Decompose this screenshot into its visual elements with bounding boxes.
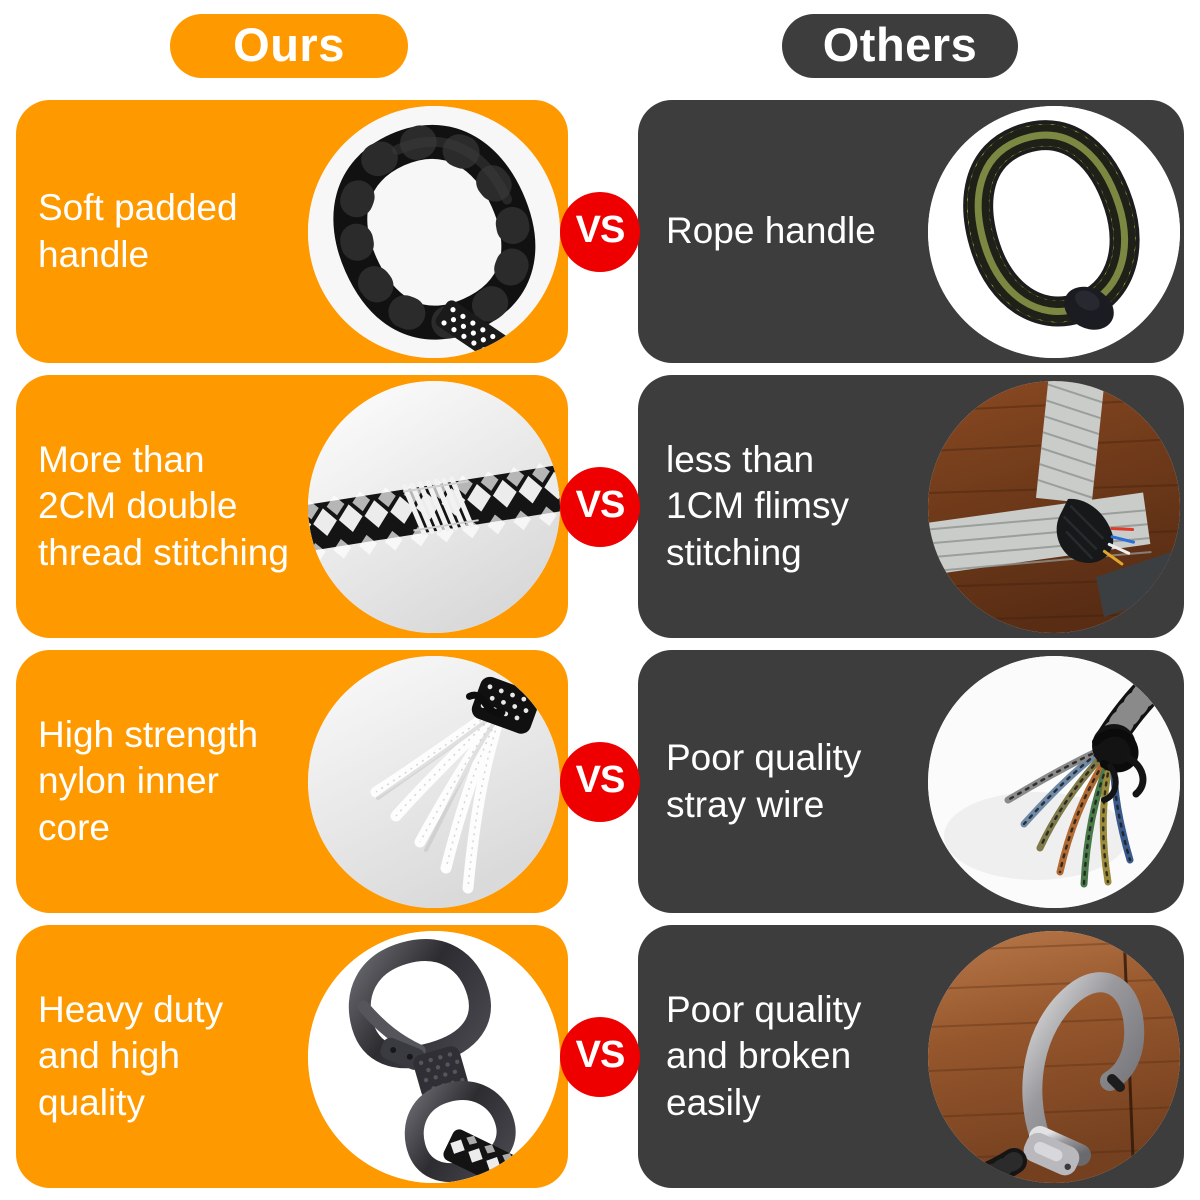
double-thread-stitching-photo — [308, 381, 560, 633]
flimsy-stitching-photo — [928, 381, 1180, 633]
ours-feature-text: Heavy duty and high quality — [38, 987, 223, 1127]
ours-card-row-1: Soft padded handle — [16, 100, 568, 363]
others-feature-text: Poor quality stray wire — [666, 735, 861, 828]
others-card-row-2: less than 1CM flimsy stitching — [638, 375, 1184, 638]
ours-feature-text: More than 2CM double thread stitching — [38, 437, 289, 577]
vs-badge: VS — [560, 192, 640, 272]
comparison-row: Soft padded handle — [0, 100, 1200, 363]
header-label-ours: Ours — [233, 21, 345, 68]
comparison-rows: Soft padded handle — [0, 100, 1200, 1188]
header-pill-ours: Ours — [170, 14, 408, 78]
ours-feature-text: Soft padded handle — [38, 185, 238, 278]
heavy-duty-swivel-clasp-photo — [308, 931, 560, 1183]
vs-label: VS — [576, 1036, 625, 1077]
ours-card-row-4: Heavy duty and high quality — [16, 925, 568, 1188]
vs-badge: VS — [560, 1017, 640, 1097]
padded-fabric-handle-photo — [308, 106, 560, 358]
others-feature-text: less than 1CM flimsy stitching — [666, 437, 849, 577]
vs-label: VS — [576, 486, 625, 527]
vs-badge: VS — [560, 467, 640, 547]
others-feature-text: Rope handle — [666, 208, 876, 255]
vs-label: VS — [576, 211, 625, 252]
ours-feature-text: High strength nylon inner core — [38, 712, 258, 852]
vs-badge: VS — [560, 742, 640, 822]
comparison-infographic: Ours Others Soft padded handle — [0, 0, 1200, 1200]
white-nylon-inner-core-photo — [308, 656, 560, 908]
column-headers: Ours Others — [0, 14, 1200, 80]
others-card-row-1: Rope handle — [638, 100, 1184, 363]
vs-label: VS — [576, 761, 625, 802]
comparison-row: Heavy duty and high quality — [0, 925, 1200, 1188]
others-card-row-4: Poor quality and broken easily — [638, 925, 1184, 1188]
comparison-row: High strength nylon inner core — [0, 650, 1200, 913]
comparison-row: More than 2CM double thread stitching — [0, 375, 1200, 638]
ours-card-row-3: High strength nylon inner core — [16, 650, 568, 913]
green-rope-handle-photo — [928, 106, 1180, 358]
others-card-row-3: Poor quality stray wire — [638, 650, 1184, 913]
header-pill-others: Others — [782, 14, 1018, 78]
broken-carabiner-photo — [928, 931, 1180, 1183]
ours-card-row-2: More than 2CM double thread stitching — [16, 375, 568, 638]
others-feature-text: Poor quality and broken easily — [666, 987, 861, 1127]
stray-wire-strands-photo — [928, 656, 1180, 908]
header-label-others: Others — [823, 21, 978, 68]
